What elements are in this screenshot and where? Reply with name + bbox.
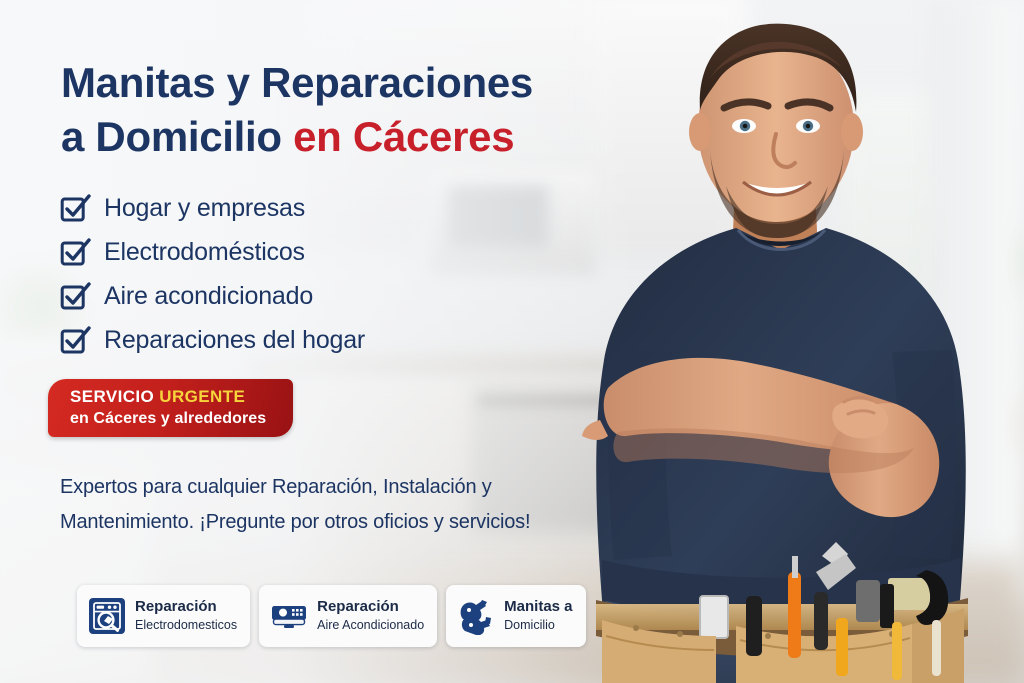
service-badges: Reparación Electrodomesticos (77, 585, 586, 647)
badge-subtitle: Electrodomesticos (135, 618, 237, 632)
checklist-label: Aire acondicionado (104, 282, 313, 311)
badge-text: Manitas a Domicilio (504, 598, 572, 634)
urgent-service-banner: SERVICIO URGENTE en Cáceres y alrededore… (48, 379, 293, 437)
list-item: Aire acondicionado (60, 274, 365, 318)
badge-subtitle: Domicilio (504, 618, 555, 632)
headline-line-1: Manitas y Reparaciones (61, 59, 533, 106)
badge-reparacion-aire-acondicionado[interactable]: Reparación Aire Acondicionado (259, 585, 437, 647)
washing-machine-magnifier-icon (88, 597, 126, 635)
urgent-banner-line-1: SERVICIO URGENTE (70, 386, 293, 407)
page-title: Manitas y Reparaciones a Domicilio en Cá… (61, 56, 601, 164)
badge-reparacion-electrodomesticos[interactable]: Reparación Electrodomesticos (77, 585, 250, 647)
checklist-label: Electrodomésticos (104, 238, 305, 267)
urgent-banner-urgente: URGENTE (159, 387, 245, 406)
urgent-banner-servicio: SERVICIO (70, 387, 159, 406)
list-item: Electrodomésticos (60, 230, 365, 274)
badge-text: Reparación Electrodomesticos (135, 598, 237, 634)
badge-title: Manitas a (504, 598, 572, 615)
badge-text: Reparación Aire Acondicionado (317, 598, 424, 634)
headline-line-2-highlight: en Cáceres (293, 113, 514, 160)
badge-title: Reparación (135, 598, 217, 615)
checkbox-checked-icon (60, 281, 90, 311)
checklist-label: Hogar y empresas (104, 194, 305, 223)
checkbox-checked-icon (60, 237, 90, 267)
description-paragraph: Expertos para cualquier Reparación, Inst… (60, 470, 580, 540)
handyman-tools-icon (457, 597, 495, 635)
checkbox-checked-icon (60, 325, 90, 355)
promo-content: Manitas y Reparaciones a Domicilio en Cá… (0, 0, 620, 683)
checkbox-checked-icon (60, 193, 90, 223)
badge-subtitle: Aire Acondicionado (317, 618, 424, 632)
urgent-banner-line-2: en Cáceres y alrededores (70, 408, 293, 429)
air-conditioner-icon (270, 597, 308, 635)
badge-title: Reparación (317, 598, 399, 615)
services-checklist: Hogar y empresas Electrodomésticos Aire … (60, 186, 365, 362)
checklist-label: Reparaciones del hogar (104, 326, 365, 355)
headline-line-2-prefix: a Domicilio (61, 113, 293, 160)
list-item: Hogar y empresas (60, 186, 365, 230)
list-item: Reparaciones del hogar (60, 318, 365, 362)
badge-manitas-a-domicilio[interactable]: Manitas a Domicilio (446, 585, 585, 647)
